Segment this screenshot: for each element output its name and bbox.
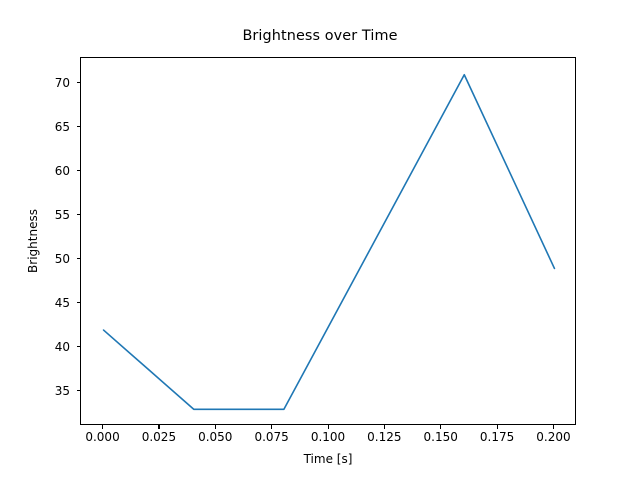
x-tick-mark: [102, 425, 103, 429]
matplotlib-figure: Brightness over Time 3540455055606570 0.…: [0, 0, 640, 480]
y-axis-label: Brightness: [26, 209, 40, 273]
y-tick-label: 40: [32, 341, 70, 353]
y-tick-label: 70: [32, 77, 70, 89]
x-axis-label: Time [s]: [80, 452, 576, 466]
x-tick-mark: [158, 425, 159, 429]
x-tick-mark: [215, 425, 216, 429]
x-tick-mark: [328, 425, 329, 429]
x-tick-mark: [384, 425, 385, 429]
line-series-svg: [81, 58, 577, 426]
x-tick-mark: [271, 425, 272, 429]
x-tick-mark: [440, 425, 441, 429]
y-axis: 3540455055606570: [0, 0, 80, 480]
x-tick-mark: [553, 425, 554, 429]
y-tick-label: 45: [32, 297, 70, 309]
chart-title: Brightness over Time: [0, 28, 640, 44]
y-tick-label: 65: [32, 121, 70, 133]
x-tick-mark: [497, 425, 498, 429]
brightness-line: [104, 75, 555, 410]
y-tick-label: 60: [32, 165, 70, 177]
plot-area: [80, 57, 576, 425]
x-tick-label: 0.200: [518, 431, 588, 443]
y-tick-label: 35: [32, 385, 70, 397]
